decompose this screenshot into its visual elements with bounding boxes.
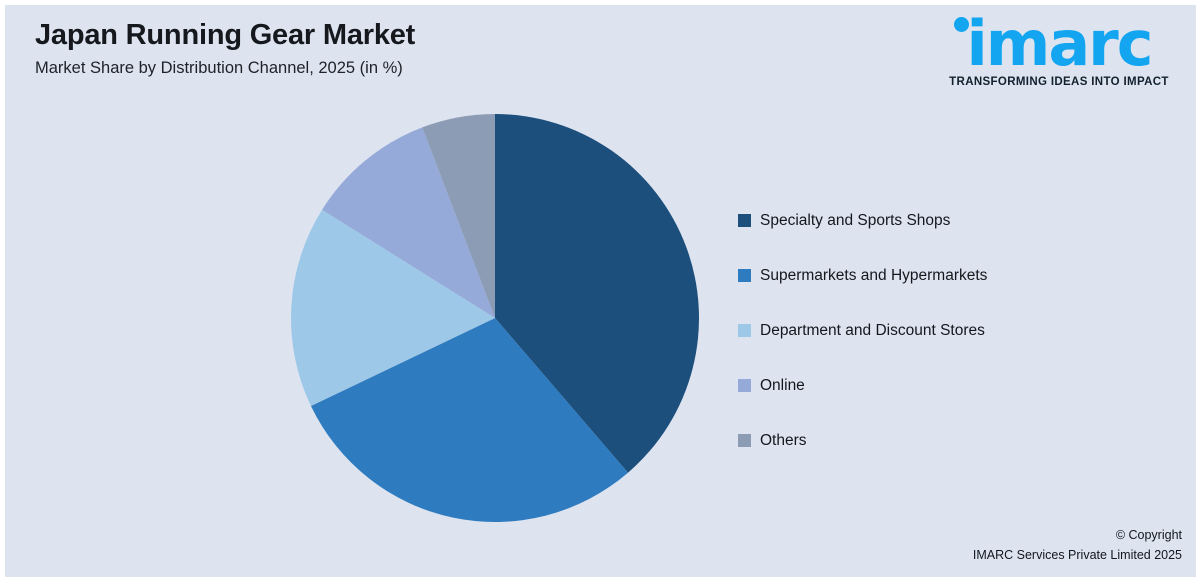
- pie-slice-group: [291, 114, 699, 522]
- legend-item[interactable]: Others: [738, 413, 1168, 468]
- legend-swatch-icon: [738, 324, 751, 337]
- legend-item-label: Department and Discount Stores: [760, 322, 985, 340]
- legend-item[interactable]: Supermarkets and Hypermarkets: [738, 248, 1168, 303]
- imarc-logo: imarc TRANSFORMING IDEAS INTO IMPACT: [934, 15, 1184, 88]
- legend-swatch-icon: [738, 269, 751, 282]
- chart-subtitle: Market Share by Distribution Channel, 20…: [35, 59, 675, 78]
- legend-item[interactable]: Specialty and Sports Shops: [738, 193, 1168, 248]
- logo-wordmark-text: imarc: [934, 15, 1184, 74]
- legend-item-label: Specialty and Sports Shops: [760, 212, 950, 230]
- logo-wordmark-label: imarc: [966, 7, 1151, 80]
- legend-item-label: Online: [760, 377, 805, 395]
- copyright-line-2: IMARC Services Private Limited 2025: [973, 546, 1182, 565]
- legend-item-label: Supermarkets and Hypermarkets: [760, 267, 987, 285]
- legend-item[interactable]: Online: [738, 358, 1168, 413]
- pie-chart-svg: [290, 113, 700, 523]
- chart-canvas: Japan Running Gear Market Market Share b…: [0, 0, 1201, 582]
- legend-swatch-icon: [738, 434, 751, 447]
- page-title: Japan Running Gear Market: [35, 19, 675, 52]
- legend-swatch-icon: [738, 379, 751, 392]
- copyright-notice: © Copyright IMARC Services Private Limit…: [973, 526, 1182, 565]
- legend-item[interactable]: Department and Discount Stores: [738, 303, 1168, 358]
- chart-header: Japan Running Gear Market Market Share b…: [35, 19, 675, 78]
- legend-swatch-icon: [738, 214, 751, 227]
- chart-legend: Specialty and Sports ShopsSupermarkets a…: [738, 193, 1168, 468]
- copyright-line-1: © Copyright: [973, 526, 1182, 545]
- logo-dot-icon: [954, 17, 969, 32]
- legend-item-label: Others: [760, 432, 807, 450]
- pie-chart: [290, 113, 700, 523]
